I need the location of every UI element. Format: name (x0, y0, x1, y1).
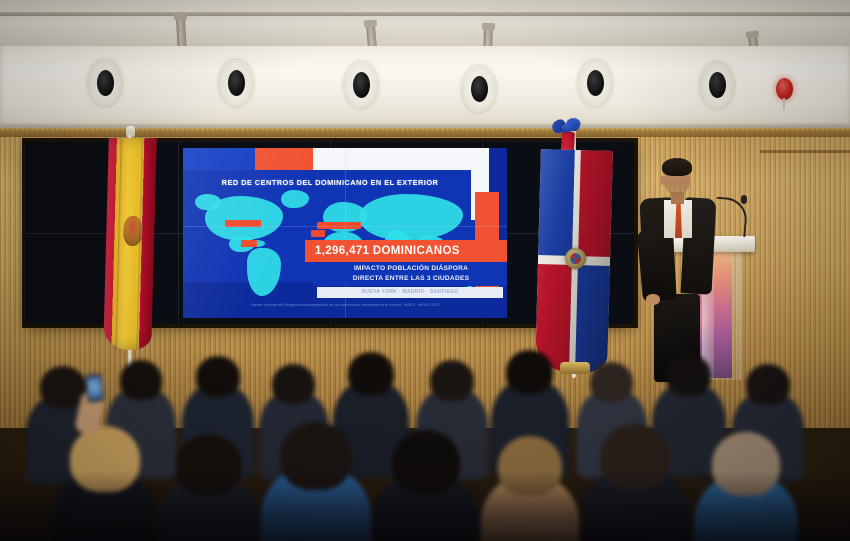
slide-cities-text: NUEVA YORK · MADRID · SANTIAGO (317, 287, 503, 298)
microphone-head (741, 195, 747, 204)
landmass-asia (359, 194, 463, 240)
slide-stat-subtitle-band: IMPACTO POBLACIÓN DIÁSPORA DIRECTA ENTRE… (313, 262, 507, 286)
landmass-south-america (247, 248, 281, 296)
ceiling-downlight-4 (462, 66, 496, 112)
ceiling-downlight-2 (219, 60, 253, 106)
ceiling-downlight-1 (88, 60, 122, 106)
map-marker-iberia (311, 230, 325, 237)
audience-member-head (506, 350, 553, 394)
red-emergency-light (776, 78, 793, 100)
speaker-hair (662, 158, 692, 176)
gooseneck-microphone (715, 198, 753, 238)
slide-title: RED DE CENTROS DEL DOMINICANO EN EL EXTE… (183, 178, 477, 187)
presentation-slide: RED DE CENTROS DEL DOMINICANO EN EL EXTE… (183, 148, 507, 318)
slide-block-blue-top (183, 148, 255, 170)
flag-blue-bow (552, 118, 582, 144)
slide-block-white-top (313, 148, 489, 172)
slide-stat-subtitle-line2: DIRECTA ENTRE LAS 3 CIUDADES (321, 274, 501, 284)
flag-fold (115, 138, 124, 350)
audience-member-head (430, 360, 474, 401)
ceiling-track-rail (0, 12, 850, 16)
ceiling-downlight-3 (344, 62, 378, 108)
ceiling-downlight-5 (578, 60, 612, 106)
audience-member-head (666, 354, 711, 396)
audience-member-head (498, 436, 562, 496)
audience-member-head (712, 432, 780, 496)
speaker-hand (646, 294, 660, 305)
audience-member-head (590, 362, 633, 402)
slide-source-note: Fuente: Informe del Registro sociodemogr… (183, 303, 507, 307)
slide-block-red-top (255, 148, 313, 172)
smartphone-screen (87, 376, 102, 399)
audience-member-head (280, 422, 352, 490)
audience-member-head (120, 360, 162, 400)
audience-member-head (348, 352, 394, 395)
slide-stat-number: 1,296,471 DOMINICANOS (305, 245, 460, 257)
ceiling-slab (0, 0, 850, 52)
audience-member-head (392, 430, 460, 494)
audience-member-head (600, 424, 670, 490)
audience-member-head (196, 356, 240, 397)
spain-flag (103, 138, 157, 350)
audience (0, 330, 850, 541)
audience-member-head (176, 434, 242, 496)
bow-knot (562, 124, 571, 133)
audience-smartphone (85, 373, 105, 403)
landmass-greenland (281, 190, 309, 208)
audience-member-head (746, 364, 790, 405)
speaker-ear (660, 176, 666, 185)
slide-stat-band: 1,296,471 DOMINICANOS (305, 240, 507, 262)
conference-hall-photo: RED DE CENTROS DEL DOMINICANO EN EL EXTE… (0, 0, 850, 541)
ceiling-downlight-6 (700, 62, 734, 108)
map-marker-caribbean (241, 240, 257, 247)
audience-member-head (272, 364, 315, 404)
wall-seam-right (760, 150, 850, 153)
slide-cities-band: NUEVA YORK · MADRID · SANTIAGO (317, 287, 503, 298)
slide-stat-subtitle-line1: IMPACTO POBLACIÓN DIÁSPORA (321, 264, 501, 274)
audience-member-head (70, 426, 140, 492)
